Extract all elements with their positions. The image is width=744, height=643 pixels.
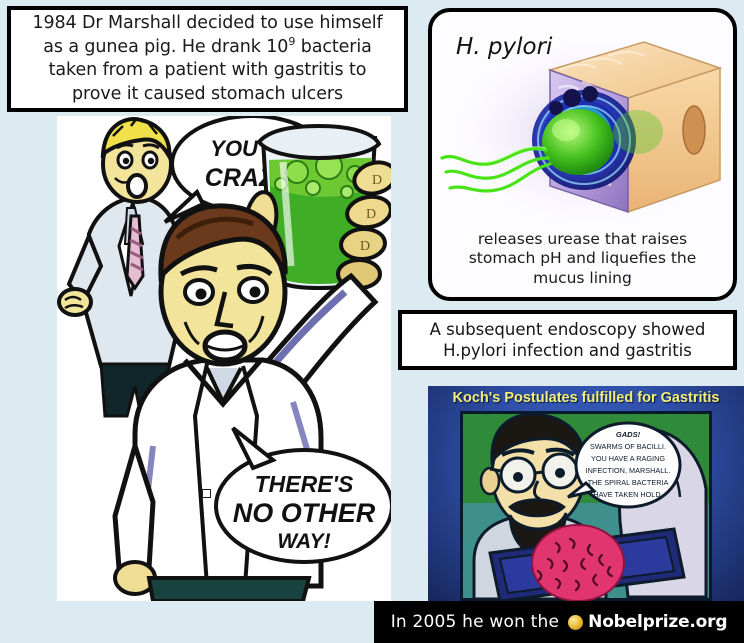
intro-caption-line-1: 1984 Dr Marshall decided to use himself [32, 13, 382, 33]
beaker-hand-crease-1: D [372, 173, 382, 188]
marshall-cartoon-svg: YOU'RE CRAZY! [57, 116, 391, 601]
intro-caption-line-2a: as a gunea pig. He drank 10 [43, 37, 288, 57]
koch-bubble-line-3: INFECTION, MARSHALL. [586, 466, 671, 475]
hpylori-panel: H. pylori releases urease that raises st… [428, 8, 737, 301]
slide-canvas: 1984 Dr Marshall decided to use himself … [0, 0, 744, 643]
intro-caption-box: 1984 Dr Marshall decided to use himself … [7, 6, 408, 112]
nobel-medal-icon [568, 615, 583, 630]
bubble-way-line-2: NO OTHER [233, 498, 376, 528]
koch-bubble-line-1: SWARMS OF BACILLI. [590, 442, 666, 451]
selection-handle-marker[interactable] [202, 489, 211, 498]
bubble-way-line-3: WAY! [277, 530, 330, 553]
nobel-brand-label: Nobelprize.org [588, 612, 727, 632]
koch-postulates-panel: Koch's Postulates fulfilled for Gastriti… [428, 386, 744, 601]
hpylori-title: H. pylori [456, 34, 552, 60]
koch-bubble-line-5: HAVE TAKEN HOLD. [593, 490, 662, 499]
intro-caption-text: 1984 Dr Marshall decided to use himself … [26, 12, 388, 105]
marshall-cartoon-image: YOU'RE CRAZY! [57, 116, 391, 601]
koch-bubble-line-0: GADS! [616, 430, 641, 439]
endoscopy-caption-box: A subsequent endoscopy showed H.pylori i… [398, 310, 737, 370]
intro-caption-line-2b: bacteria [295, 37, 372, 57]
nobel-prize-bar: In 2005 he won the Nobelprize.org [374, 601, 744, 643]
hpylori-caption-line-1: releases urease that raises [432, 230, 733, 250]
koch-cartoon-illustration: GADS! SWARMS OF BACILLI. YOU HAVE A RAGI… [460, 411, 712, 601]
hpylori-caption-line-2: stomach pH and liquefies the [432, 249, 733, 269]
koch-bubble-line-4: THE SPIRAL BACTERIA [588, 478, 669, 487]
nobel-bar-text: In 2005 he won the [391, 612, 559, 632]
beaker-hand-crease-2: D [366, 207, 376, 222]
hpylori-caption-line-3: mucus lining [432, 269, 733, 289]
intro-caption-line-3: taken from a patient with gastritis to [49, 60, 367, 80]
hpylori-caption: releases urease that raises stomach pH a… [432, 230, 733, 289]
endoscopy-caption-line-1: A subsequent endoscopy showed [430, 320, 706, 339]
koch-panel-title: Koch's Postulates fulfilled for Gastriti… [428, 390, 744, 406]
intro-caption-line-4: prove it caused stomach ulcers [72, 84, 343, 104]
koch-bubble-line-2: YOU HAVE A RAGING [591, 454, 665, 463]
beaker-hand-crease-3: D [360, 239, 370, 254]
endoscopy-caption-line-2: H.pylori infection and gastritis [443, 341, 692, 360]
endoscopy-caption-text: A subsequent endoscopy showed H.pylori i… [430, 319, 706, 362]
bubble-way-line-1: THERE'S [255, 471, 354, 497]
